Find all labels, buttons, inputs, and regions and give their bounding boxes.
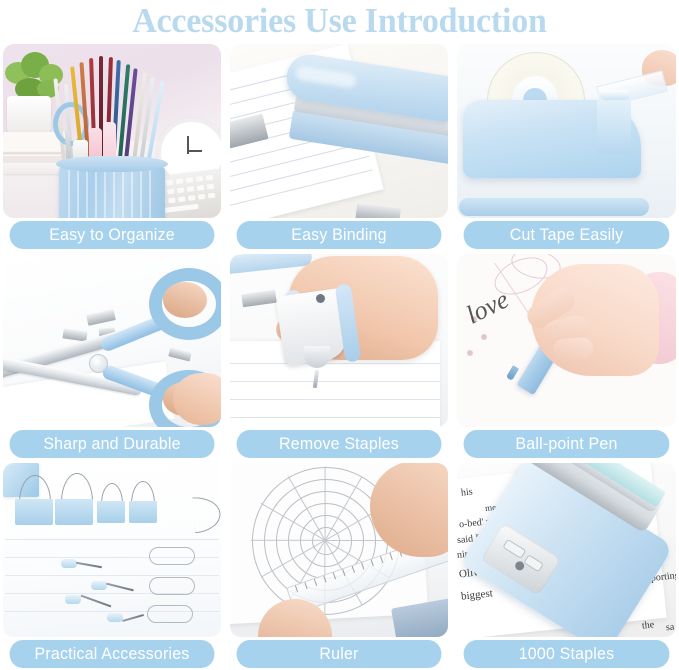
accessories-infographic: Accessories Use Introduction xyxy=(0,0,679,670)
pin-needle xyxy=(122,614,144,622)
caption-staple-remover: Remove Staples xyxy=(237,430,442,458)
clock-hand xyxy=(187,150,202,152)
grid-cell-pen-holder[interactable]: Easy to Organize xyxy=(3,44,221,249)
caption-staples-1000: 1000 Staples xyxy=(464,640,670,668)
drawing-ray xyxy=(325,467,326,541)
photo-staple-remover xyxy=(230,254,448,428)
grid-cell-stapler-binding[interactable]: Easy Binding xyxy=(230,44,448,249)
grid-cell-ball-point-pen[interactable]: love Ball-point Pen xyxy=(457,254,676,459)
scene-scissors xyxy=(3,254,221,428)
binder-clip xyxy=(15,499,53,525)
binder-clip-arm xyxy=(61,473,93,502)
finger-in-handle xyxy=(163,282,207,318)
grid-cell-practical-accessories[interactable]: Practical Accessories xyxy=(3,463,221,668)
scene-practical-accessories xyxy=(3,463,221,637)
photo-practical-accessories xyxy=(3,463,221,637)
cutting-blade xyxy=(600,90,630,100)
paper-clip xyxy=(149,547,195,565)
caption-ball-point-pen: Ball-point Pen xyxy=(464,430,670,458)
page-text-line: the xyxy=(641,619,654,631)
photo-ball-point-pen: love xyxy=(457,254,676,428)
pin-needle xyxy=(106,583,134,591)
binder-clip xyxy=(97,501,125,523)
photo-staples-1000: his me," said S o-bed' man, said Race, n… xyxy=(457,463,676,637)
photo-scissors xyxy=(3,254,221,428)
grid-cell-scissors[interactable]: Sharp and Durable xyxy=(3,254,221,459)
caption-tape-dispenser: Cut Tape Easily xyxy=(464,221,670,249)
staple xyxy=(86,309,116,326)
pin-head xyxy=(61,559,77,568)
grid-cell-ruler[interactable]: Ruler xyxy=(230,463,448,668)
binder-clip xyxy=(55,499,93,525)
page-text-line: sa xyxy=(665,622,674,634)
staple xyxy=(62,328,87,341)
grid-cell-staple-remover[interactable]: Remove Staples xyxy=(230,254,448,459)
caption-ruler: Ruler xyxy=(237,640,442,668)
page-text-line: his xyxy=(460,487,473,499)
binder-clip xyxy=(129,501,157,523)
caption-pen-holder: Easy to Organize xyxy=(10,221,215,249)
photo-pen-holder xyxy=(3,44,221,218)
caption-stapler-binding: Easy Binding xyxy=(237,221,442,249)
caption-scissors: Sharp and Durable xyxy=(10,430,215,458)
staple-strip xyxy=(355,203,401,217)
decorative-dot xyxy=(467,350,473,356)
grid-cell-staples-1000[interactable]: his me," said S o-bed' man, said Race, n… xyxy=(457,463,676,668)
photo-stapler-binding xyxy=(230,44,448,218)
page-title: Accessories Use Introduction xyxy=(10,0,669,42)
anvil-slot xyxy=(502,539,526,559)
scene-stapler-binding xyxy=(230,44,448,218)
pin-head xyxy=(107,613,123,622)
scene-pen-holder xyxy=(3,44,221,218)
photo-tape-dispenser xyxy=(457,44,676,218)
feature-grid: Easy to Organize xyxy=(3,44,676,668)
loose-staple xyxy=(241,289,276,307)
photo-ruler xyxy=(230,463,448,637)
scissor-pivot xyxy=(89,354,108,373)
scene-ball-point-pen: love xyxy=(457,254,676,428)
pen-holder xyxy=(59,164,165,218)
paper-clip xyxy=(149,577,195,595)
pin-needle xyxy=(81,595,112,607)
plant-pot xyxy=(7,96,51,136)
book-stack xyxy=(3,132,65,174)
pin-head xyxy=(65,595,81,604)
staple xyxy=(168,347,192,361)
holder-rim xyxy=(56,156,168,172)
finger xyxy=(552,336,593,361)
scene-staples-1000: his me," said S o-bed' man, said Race, n… xyxy=(457,463,676,637)
dispenser-nose xyxy=(597,96,631,154)
pin-needle xyxy=(76,562,102,568)
anvil-slot xyxy=(523,555,544,573)
pin-head xyxy=(91,581,107,590)
caption-practical-accessories: Practical Accessories xyxy=(10,640,215,668)
dispenser-base xyxy=(459,198,649,216)
scene-tape-dispenser xyxy=(457,44,676,218)
remover-pivot xyxy=(316,294,325,303)
paper-clip xyxy=(147,605,193,623)
grid-cell-tape-dispenser[interactable]: Cut Tape Easily xyxy=(457,44,676,249)
scene-ruler xyxy=(230,463,448,637)
binder-clip-arm xyxy=(192,496,221,534)
scene-staple-remover xyxy=(230,254,448,428)
